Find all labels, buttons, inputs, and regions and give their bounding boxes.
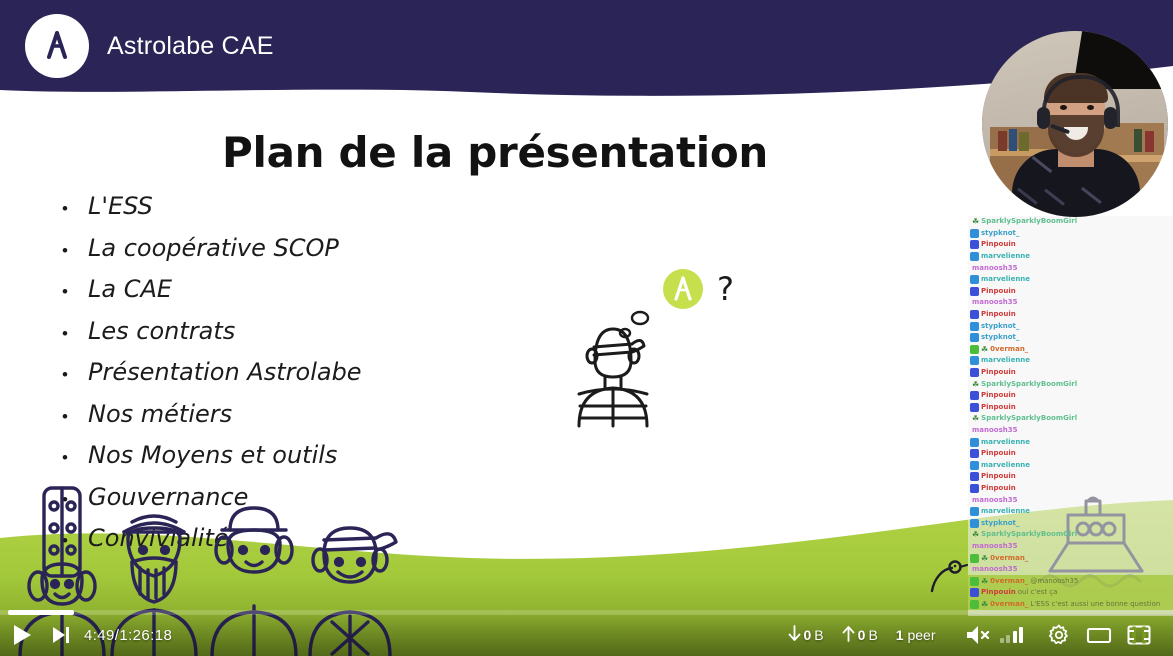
webcam-self-view[interactable] (982, 31, 1168, 217)
upload-arrow-icon (842, 625, 855, 645)
chat-badge-icon (970, 229, 979, 238)
chat-username: SparklySparklyBoomGirl (981, 216, 1077, 227)
chat-message-text: L'ESS c'est aussi une bonne question (1030, 599, 1160, 610)
bullet-dot-icon: • (62, 408, 88, 425)
chat-username: 0verman_ (990, 576, 1028, 587)
chat-username: Pinpouin (981, 367, 1016, 378)
peer-count-label: peer (907, 627, 935, 643)
chat-message-row: Pinpouin (968, 367, 1173, 379)
download-arrow-icon (788, 625, 801, 645)
chat-message-row: Pinpouin (968, 448, 1173, 460)
chat-badge-icon (970, 438, 979, 447)
chat-message-row: Pinpouin (968, 309, 1173, 321)
slide-bullet-label: L'ESS (88, 192, 153, 220)
chat-message-row: ☘SparklySparklyBoomGirl (968, 529, 1173, 541)
bullet-dot-icon: • (62, 325, 88, 342)
slide-bullet-item: •Les contrats (62, 317, 622, 359)
chat-username: manoosh35 (972, 297, 1018, 308)
webcam-book (1134, 129, 1142, 152)
headset-earcup-icon (1104, 107, 1117, 129)
current-time: 4:49 (84, 627, 115, 644)
chat-username: marvelienne (981, 355, 1030, 366)
chat-message-row: ☘0verman_ (968, 552, 1173, 564)
chat-emote-icon: ☘ (972, 414, 979, 423)
slide-bullet-label: Nos Moyens et outils (88, 441, 337, 469)
astrolabe-a-logo-icon (25, 14, 89, 78)
chat-badge-icon (970, 600, 979, 609)
slide-bullet-item: •Présentation Astrolabe (62, 358, 622, 400)
upload-stat: 0 B (842, 625, 878, 645)
bird-illustration (930, 559, 970, 594)
play-icon[interactable] (0, 614, 44, 656)
chat-emote-icon: ☘ (981, 600, 988, 609)
bullet-dot-icon: • (62, 283, 88, 300)
upload-value: 0 (858, 627, 866, 643)
chat-message-row: stypknot_ (968, 228, 1173, 240)
chat-username: 0verman_ (990, 599, 1028, 610)
chat-emote-icon: ☘ (972, 380, 979, 389)
slide-bullet-item: •L'ESS (62, 192, 622, 234)
slide-bullet-item: •Nos métiers (62, 400, 622, 442)
chat-username: Pinpouin (981, 309, 1016, 320)
skip-next-icon[interactable] (44, 614, 78, 656)
chat-badge-icon (970, 588, 979, 597)
chat-username: marvelienne (981, 251, 1030, 262)
chat-badge-icon (970, 368, 979, 377)
chat-username: SparklySparklyBoomGirl (981, 529, 1077, 540)
chat-username: Pinpouin (981, 483, 1016, 494)
chat-username: stypknot_ (981, 321, 1019, 332)
chat-username: Pinpouin (981, 402, 1016, 413)
chat-badge-icon (970, 484, 979, 493)
slide-bullet-label: La coopérative SCOP (88, 234, 339, 262)
chat-message-text: @manoosh35 (1030, 576, 1078, 587)
slide-bullet-label: Présentation Astrolabe (88, 358, 362, 386)
chat-badge-icon (970, 356, 979, 365)
download-stat: 0 B (788, 625, 824, 645)
chat-badge-icon (970, 275, 979, 284)
chat-badge-icon (970, 577, 979, 586)
chat-message-row: stypknot_ (968, 517, 1173, 529)
chat-badge-icon (970, 345, 979, 354)
chat-badge-icon (970, 310, 979, 319)
brand-title: Astrolabe CAE (107, 32, 274, 61)
chat-message-row: stypknot_ (968, 332, 1173, 344)
slide-bullet-item: •La CAE (62, 275, 622, 317)
peer-count: 1 peer (896, 627, 936, 643)
chat-username: marvelienne (981, 506, 1030, 517)
chat-message-row: manoosh35 (968, 297, 1173, 309)
chat-badge-icon (970, 403, 979, 412)
slide-bullet-label: Les contrats (88, 317, 235, 345)
chat-username: manoosh35 (972, 495, 1018, 506)
chat-message-row: stypknot_ (968, 320, 1173, 332)
chat-message-row: manoosh35 (968, 494, 1173, 506)
chat-username: manoosh35 (972, 564, 1018, 575)
download-value: 0 (804, 627, 812, 643)
chat-emote-icon: ☘ (972, 530, 979, 539)
chat-badge-icon (970, 240, 979, 249)
total-time: 1:26:18 (119, 627, 172, 644)
chat-message-row: manoosh35 (968, 564, 1173, 576)
chat-badge-icon (970, 333, 979, 342)
chat-message-row: manoosh35 (968, 541, 1173, 553)
webcam-book (1009, 129, 1017, 151)
bullet-dot-icon: • (62, 449, 88, 466)
chat-username: 0verman_ (990, 553, 1028, 564)
chat-username: manoosh35 (972, 425, 1018, 436)
chat-message-row: manoosh35 (968, 425, 1173, 437)
chat-message-row: marvelienne (968, 274, 1173, 286)
thinking-pirate-illustration: ? (565, 266, 745, 431)
speaker-muted-icon[interactable] (958, 614, 998, 656)
chat-username: marvelienne (981, 460, 1030, 471)
chat-username: Pinpouin (981, 286, 1016, 297)
chat-badge-icon (970, 287, 979, 296)
chat-badge-icon (970, 472, 979, 481)
chat-username: marvelienne (981, 274, 1030, 285)
chat-message-row: Pinpouin (968, 286, 1173, 298)
chat-badge-icon (970, 322, 979, 331)
progress-bar-fill (8, 610, 74, 615)
slide-title: Plan de la présentation (0, 128, 990, 177)
peer-count-value: 1 (896, 627, 904, 643)
webcam-book (1145, 131, 1154, 152)
webcam-book (1019, 132, 1029, 151)
chat-message-row: Pinpouin (968, 390, 1173, 402)
slide-bullet-label: Nos métiers (88, 400, 232, 428)
chat-emote-icon: ☘ (981, 345, 988, 354)
chat-badge-icon (970, 519, 979, 528)
chat-message-row: marvelienne (968, 459, 1173, 471)
chat-message-row: marvelienne (968, 355, 1173, 367)
download-unit: B (814, 627, 823, 643)
webcam-book (998, 131, 1007, 151)
chat-message-row: Pinpouin (968, 483, 1173, 495)
headset-earcup-icon (1037, 107, 1050, 129)
chat-emote-icon: ☘ (981, 577, 988, 586)
chat-message-row: ☘SparklySparklyBoomGirl (968, 378, 1173, 390)
chat-message-row: ☘SparklySparklyBoomGirl (968, 413, 1173, 425)
chat-emote-icon: ☘ (972, 217, 979, 226)
chat-message-row: marvelienne (968, 436, 1173, 448)
chat-username: Pinpouin (981, 390, 1016, 401)
chat-message-row: Pinpouin (968, 239, 1173, 251)
chat-username: marvelienne (981, 437, 1030, 448)
chat-username: manoosh35 (972, 541, 1018, 552)
chat-username: stypknot_ (981, 228, 1019, 239)
chat-badge-icon (970, 252, 979, 261)
chat-message-text: oui c'est ça (1018, 587, 1058, 598)
chat-message-row: manoosh35 (968, 262, 1173, 274)
chat-message-row: Pinpouin (968, 402, 1173, 414)
chat-badge-icon (970, 461, 979, 470)
signal-bars-icon (1000, 627, 1024, 643)
video-control-bar: 4:49/1:26:18 0 B 0 B 1 peer (0, 614, 1173, 656)
chat-message-row: ☘0verman_L'ESS c'est aussi une bonne que… (968, 599, 1173, 611)
chat-username: 0verman_ (990, 344, 1028, 355)
chat-message-row: marvelienne (968, 251, 1173, 263)
chat-username: stypknot_ (981, 518, 1019, 529)
chat-username: Pinpouin (981, 448, 1016, 459)
chat-message-row: ☘0verman_ (968, 344, 1173, 356)
bullet-dot-icon: • (62, 200, 88, 217)
chat-message-row: Pinpouin (968, 471, 1173, 483)
bullet-dot-icon: • (62, 366, 88, 383)
chat-username: manoosh35 (972, 263, 1018, 274)
time-display: 4:49/1:26:18 (84, 627, 172, 644)
chat-message-row: ☘0verman_@manoosh35 (968, 575, 1173, 587)
chat-badge-icon (970, 391, 979, 400)
chat-badge-icon (970, 554, 979, 563)
bullet-dot-icon: • (62, 242, 88, 259)
chat-username: Pinpouin (981, 471, 1016, 482)
upload-unit: B (868, 627, 877, 643)
chat-message-row: Pinpouinoui c'est ça (968, 587, 1173, 599)
chat-badge-icon (970, 507, 979, 516)
svg-text:?: ? (717, 270, 734, 308)
chat-overlay-panel[interactable]: ☘SparklySparklyBoomGirlstypknot_Pinpouin… (968, 216, 1173, 616)
chat-message-row: ☘SparklySparklyBoomGirl (968, 216, 1173, 228)
theater-mode-icon[interactable] (1079, 614, 1119, 656)
video-player-viewport: Astrolabe CAE Plan de la présentation •L… (0, 0, 1173, 656)
gear-icon[interactable] (1039, 614, 1079, 656)
fullscreen-icon[interactable] (1119, 614, 1159, 656)
chat-message-row: marvelienne (968, 506, 1173, 518)
chat-username: Pinpouin (981, 239, 1016, 250)
chat-username: SparklySparklyBoomGirl (981, 379, 1077, 390)
slide-bullet-label: La CAE (88, 275, 172, 303)
chat-badge-icon (970, 449, 979, 458)
brand: Astrolabe CAE (25, 14, 274, 78)
chat-username: stypknot_ (981, 332, 1019, 343)
progress-bar-track[interactable] (0, 610, 1173, 615)
chat-emote-icon: ☘ (981, 554, 988, 563)
chat-username: SparklySparklyBoomGirl (981, 413, 1077, 424)
chat-username: Pinpouin (981, 587, 1016, 598)
slide-bullet-item: •La coopérative SCOP (62, 234, 622, 276)
